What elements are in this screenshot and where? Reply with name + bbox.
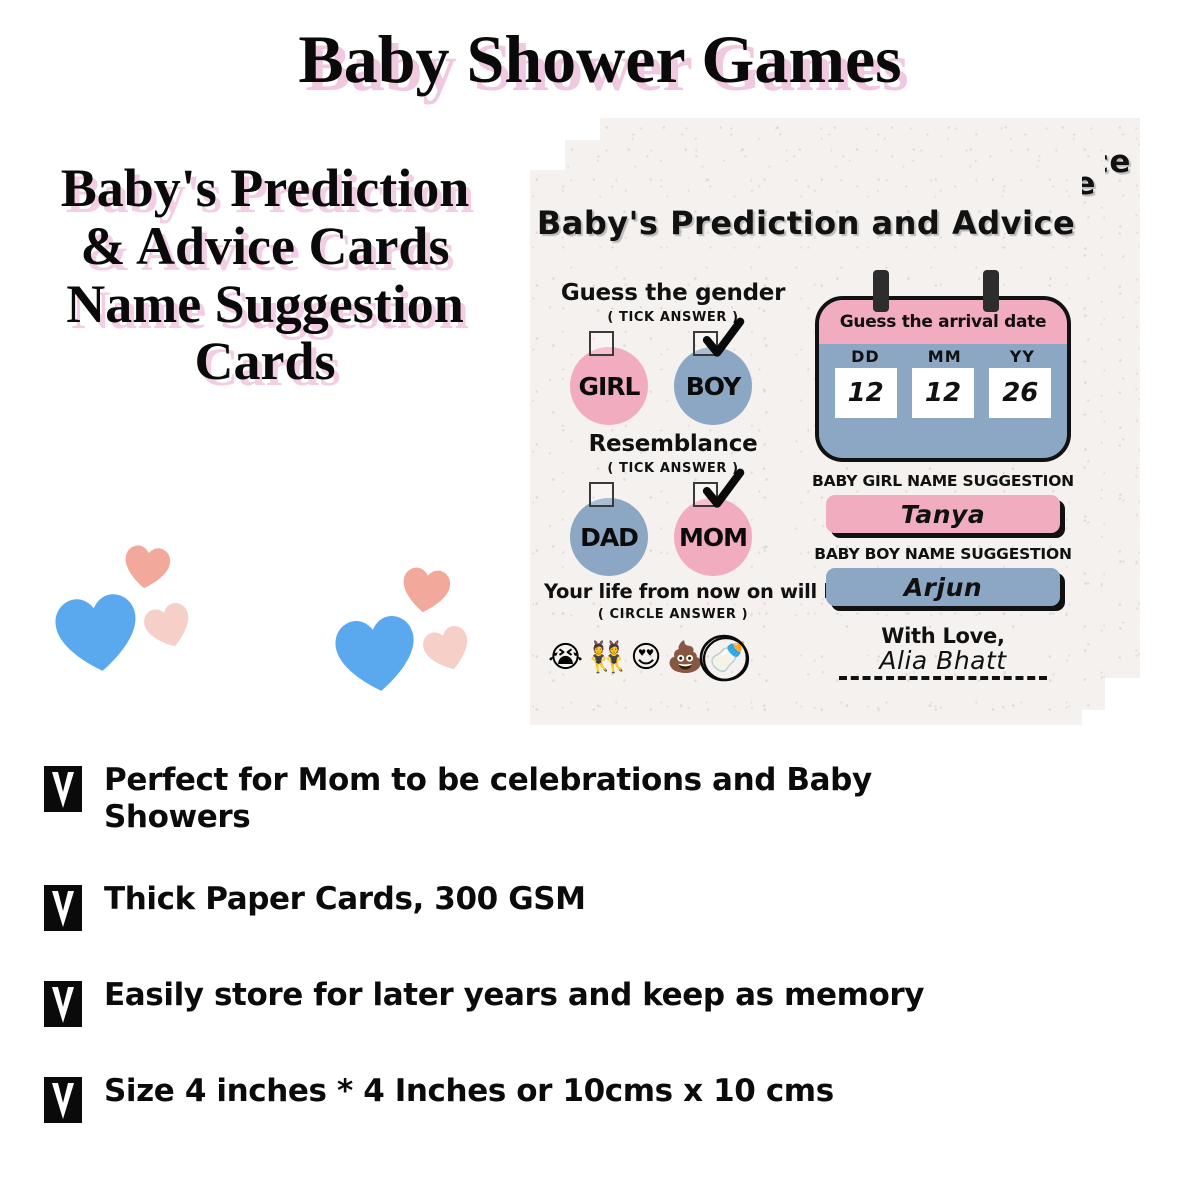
boy-name-field[interactable]: Arjun <box>826 568 1060 606</box>
resemblance-question-title: Resemblance <box>544 431 802 457</box>
heart-cluster-right <box>325 562 485 692</box>
list-item-label: Easily store for later years and keep as… <box>104 977 924 1014</box>
calendar-label-yy: YY <box>1010 347 1035 366</box>
feature-list: Perfect for Mom to be celebrations and B… <box>44 762 1114 1157</box>
resemblance-option-dad-label: DAD <box>570 498 648 576</box>
gender-question-subtitle: ( TICK ANSWER ) <box>544 310 802 325</box>
calendar-label-dd: DD <box>851 347 880 366</box>
list-item: Thick Paper Cards, 300 GSM <box>44 881 1114 931</box>
resemblance-choice-row: DAD MOM <box>544 484 802 576</box>
checkmark-box-icon <box>44 766 82 812</box>
checkbox-dad[interactable] <box>589 482 614 507</box>
signature-text[interactable]: Alia Bhatt <box>812 646 1074 675</box>
calendar-value-mm[interactable]: 12 <box>912 368 974 418</box>
gender-option-girl-label: GIRL <box>570 347 648 425</box>
life-question-block: Your life from now on will be ( CIRCLE A… <box>544 580 802 684</box>
resemblance-option-mom[interactable]: MOM <box>674 498 752 576</box>
calendar-label-mm: MM <box>928 347 962 366</box>
calendar-column-labels: DD MM YY <box>819 344 1067 366</box>
calendar-body: Guess the arrival date DD MM YY 12 12 26 <box>815 296 1071 462</box>
list-item: Easily store for later years and keep as… <box>44 977 1114 1027</box>
checkbox-girl[interactable] <box>589 331 614 356</box>
heart-salmon-icon <box>118 539 176 594</box>
heart-eyes-face-emoji[interactable]: 😍 <box>630 643 661 673</box>
calendar-peg-right <box>983 270 999 312</box>
product-card-stack: Baby's Prediction and Advice Baby's Pred… <box>530 118 1140 738</box>
calendar-peg-left <box>873 270 889 312</box>
resemblance-option-dad[interactable]: DAD <box>570 498 648 576</box>
boy-name-label: BABY BOY NAME SUGGESTION <box>812 545 1074 563</box>
life-question-subtitle: ( CIRCLE ANSWER ) <box>544 607 802 622</box>
signoff-block: With Love, Alia Bhatt <box>812 624 1074 680</box>
heart-blue-icon <box>43 582 150 681</box>
calendar-value-cells: 12 12 26 <box>819 366 1067 418</box>
card-front-layer: Baby's Prediction and Advice Guess the g… <box>530 170 1082 725</box>
heart-cluster-left <box>45 538 205 668</box>
calendar-title-band: Guess the arrival date <box>819 300 1067 344</box>
signature-rule <box>839 676 1047 680</box>
list-item-label: Perfect for Mom to be celebrations and B… <box>104 762 984 835</box>
resemblance-option-mom-label: MOM <box>674 498 752 576</box>
promo-headline: Baby's Prediction & Advice Cards Name Su… <box>40 160 490 391</box>
card-right-column: Guess the arrival date DD MM YY 12 12 26… <box>812 270 1074 680</box>
heart-blue-icon <box>324 604 429 700</box>
gender-question-block: Guess the gender ( TICK ANSWER ) GIRL BO… <box>544 280 802 425</box>
life-question-title: Your life from now on will be <box>544 580 802 603</box>
list-item-label: Thick Paper Cards, 300 GSM <box>104 881 586 918</box>
card-left-column: Guess the gender ( TICK ANSWER ) GIRL BO… <box>544 280 802 684</box>
life-emoji-row: 😭 👯 😍 💩 🍼 <box>544 632 802 684</box>
checkbox-mom[interactable] <box>693 482 718 507</box>
checkmark-box-icon <box>44 1077 82 1123</box>
baby-bottle-emoji-selected[interactable]: 🍼 <box>709 643 746 673</box>
gender-question-title: Guess the gender <box>544 280 802 306</box>
girl-name-field[interactable]: Tanya <box>826 495 1060 533</box>
checkmark-box-icon <box>44 981 82 1027</box>
loudly-crying-face-emoji[interactable]: 😭 <box>548 643 583 673</box>
gender-option-boy[interactable]: BOY <box>674 347 752 425</box>
list-item-label: Size 4 inches * 4 Inches or 10cms x 10 c… <box>104 1073 834 1110</box>
checkmark-box-icon <box>44 885 82 931</box>
checkbox-boy[interactable] <box>693 331 718 356</box>
with-love-text: With Love, <box>812 624 1074 648</box>
calendar-value-yy[interactable]: 26 <box>989 368 1051 418</box>
list-item: Perfect for Mom to be celebrations and B… <box>44 762 1114 835</box>
card-heading: Baby's Prediction and Advice <box>530 204 1082 242</box>
calendar-title: Guess the arrival date <box>840 312 1046 332</box>
resemblance-question-block: Resemblance ( TICK ANSWER ) DAD MOM <box>544 431 802 576</box>
people-dancing-emoji[interactable]: 👯 <box>588 643 625 673</box>
arrival-date-calendar: Guess the arrival date DD MM YY 12 12 26 <box>815 270 1071 460</box>
calendar-value-dd[interactable]: 12 <box>835 368 897 418</box>
list-item: Size 4 inches * 4 Inches or 10cms x 10 c… <box>44 1073 1114 1123</box>
girl-name-label: BABY GIRL NAME SUGGESTION <box>812 472 1074 490</box>
gender-option-girl[interactable]: GIRL <box>570 347 648 425</box>
gender-choice-row: GIRL BOY <box>544 333 802 425</box>
resemblance-question-subtitle: ( TICK ANSWER ) <box>544 461 802 476</box>
heart-salmon-icon <box>396 560 456 617</box>
circle-scribble-icon <box>698 632 752 684</box>
page-title: Baby Shower Games <box>0 24 1200 95</box>
gender-option-boy-label: BOY <box>674 347 752 425</box>
